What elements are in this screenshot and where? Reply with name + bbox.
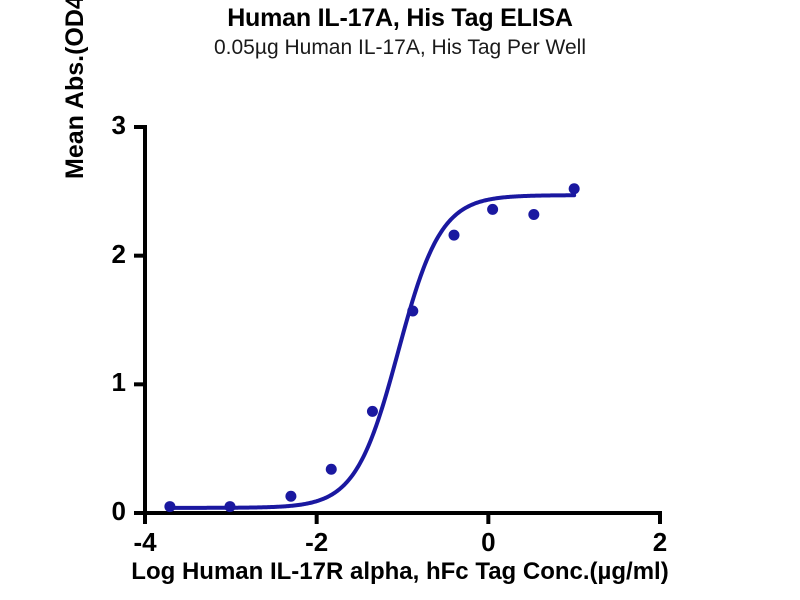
data-points xyxy=(164,183,579,512)
data-point xyxy=(407,305,418,316)
axis-lines xyxy=(134,127,660,524)
data-point xyxy=(367,406,378,417)
x-axis-label: Log Human IL-17R alpha, hFc Tag Conc.(µg… xyxy=(0,558,800,586)
x-tick-label: 2 xyxy=(620,527,700,558)
y-tick-label: 2 xyxy=(86,239,126,270)
data-point xyxy=(449,230,460,241)
data-point xyxy=(528,209,539,220)
data-point xyxy=(285,491,296,502)
x-tick-label: -4 xyxy=(105,527,185,558)
data-point xyxy=(326,464,337,475)
elisa-chart-figure: Human IL-17A, His Tag ELISA 0.05µg Human… xyxy=(0,0,800,600)
data-point xyxy=(224,501,235,512)
y-tick-label: 3 xyxy=(86,110,126,141)
x-tick-label: 0 xyxy=(448,527,528,558)
fit-curve xyxy=(170,195,574,508)
x-tick-label: -2 xyxy=(277,527,357,558)
data-point xyxy=(569,183,580,194)
y-tick-label: 0 xyxy=(86,496,126,527)
data-point xyxy=(164,501,175,512)
sigmoid-fit-curve xyxy=(170,195,574,508)
y-axis-label: Mean Abs.(OD450) xyxy=(58,0,92,214)
y-tick-label: 1 xyxy=(86,367,126,398)
data-point xyxy=(487,204,498,215)
